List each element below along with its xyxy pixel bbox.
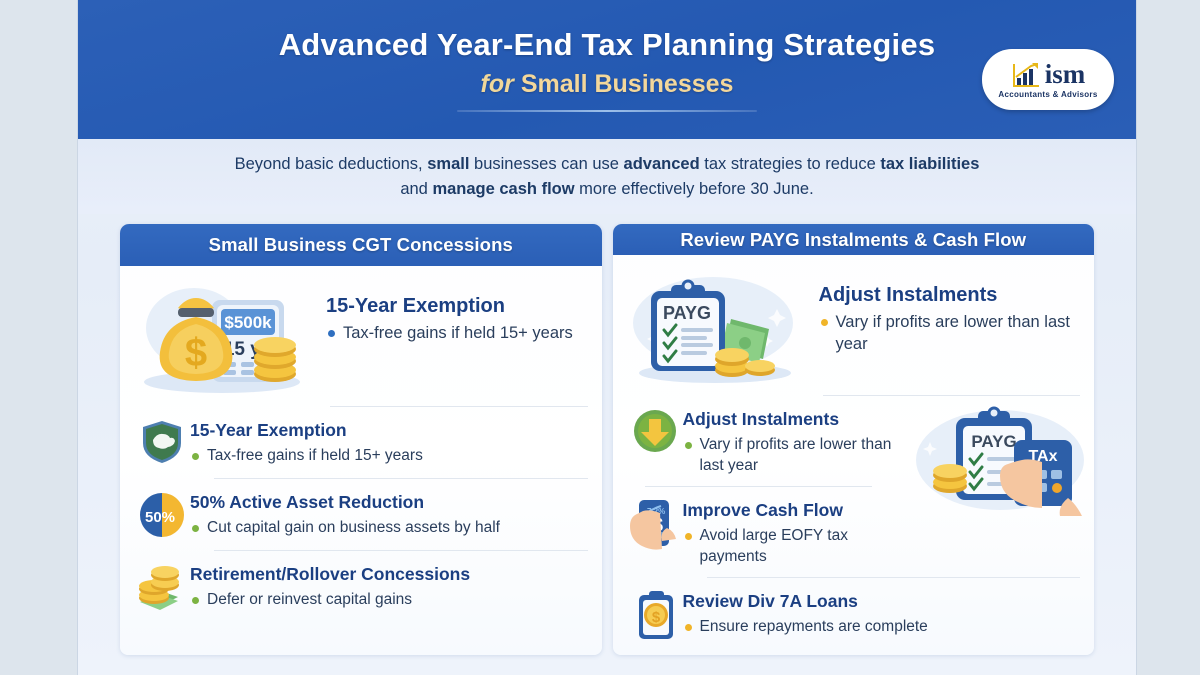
item-bullet: Defer or reinvest capital gains <box>190 590 588 610</box>
svg-text:$: $ <box>185 331 207 375</box>
header-text-block: Advanced Year-End Tax Planning Strategie… <box>78 27 1136 111</box>
logo-top-row: ism <box>1011 61 1086 89</box>
item-heading: 50% Active Asset Reduction <box>190 492 588 513</box>
svg-text:50%: 50% <box>145 509 175 526</box>
item-heading: Review Div 7A Loans <box>683 591 1081 612</box>
payg-clipboard-cash-icon: PAYG <box>627 271 809 387</box>
item-bullet-text: Ensure repayments are complete <box>700 617 928 637</box>
list-item-text: Retirement/Rollover Concessions Defer or… <box>190 562 588 610</box>
card-body-left: $500k 15 yr <box>120 266 602 655</box>
item-bullet-text: Defer or reinvest capital gains <box>207 590 412 610</box>
item-bullet-text: Tax-free gains if held 15+ years <box>343 323 573 345</box>
divider <box>214 550 588 551</box>
divider <box>823 395 1081 396</box>
card-cgt-concessions: Small Business CGT Concessions <box>120 224 602 655</box>
list-item-text: 15-Year Exemption Tax-free gains if held… <box>190 418 588 466</box>
list-item[interactable]: $ Review Div 7A Loans Ensure repayments … <box>627 580 1081 647</box>
columns-container: Small Business CGT Concessions <box>78 214 1136 665</box>
subtitle-audience: Small Businesses <box>521 70 734 98</box>
poster: Advanced Year-End Tax Planning Strategie… <box>78 0 1136 675</box>
list-item-text: Adjust Instalments Vary if profits are l… <box>809 271 1081 356</box>
title-underline <box>457 110 757 112</box>
coins-cash-icon <box>134 562 190 612</box>
intro-band: Beyond basic deductions, small businesse… <box>78 139 1136 214</box>
item-heading: Improve Cash Flow <box>683 500 905 521</box>
card-title-right: Review PAYG Instalments & Cash Flow <box>613 224 1095 255</box>
item-bullet-text: Vary if profits are lower than last year <box>700 435 905 476</box>
item-heading: Adjust Instalments <box>683 409 905 430</box>
svg-text:PAYG: PAYG <box>662 303 710 323</box>
brand-logo[interactable]: ism Accountants & Advisors <box>982 49 1114 110</box>
item-bullet: Tax-free gains if held 15+ years <box>326 323 588 345</box>
list-item[interactable]: 15-Year Exemption Tax-free gains if held… <box>134 409 588 476</box>
infographic-canvas: Advanced Year-End Tax Planning Strategie… <box>0 0 1200 675</box>
item-heading: Retirement/Rollover Concessions <box>190 564 588 585</box>
item-heading: 15-Year Exemption <box>190 420 588 441</box>
bullet-dot-icon <box>192 597 199 604</box>
bullet-dot-icon <box>685 442 692 449</box>
item-heading: Adjust Instalments <box>819 283 1081 307</box>
list-item[interactable]: 7.2% $ <box>627 489 1081 575</box>
logo-stack: ism Accountants & Advisors <box>998 61 1097 99</box>
list-item-text: 15-Year Exemption Tax-free gains if held… <box>316 282 588 345</box>
item-bullet: Cut capital gain on business assets by h… <box>190 518 588 538</box>
list-item-text: 50% Active Asset Reduction Cut capital g… <box>190 490 588 538</box>
page-subtitle: for Small Businesses <box>118 70 1096 99</box>
item-bullet-text: Vary if profits are lower than last year <box>836 312 1081 356</box>
item-bullet-text: Avoid large EOFY tax payments <box>700 526 905 567</box>
subtitle-for: for <box>481 70 514 98</box>
poster-header: Advanced Year-End Tax Planning Strategie… <box>78 0 1136 139</box>
list-item[interactable]: 50% 50% Active Asset Reduction Cut capit… <box>134 481 588 548</box>
intro-line-2: and manage cash flow more effectively be… <box>400 177 813 202</box>
item-bullet-text: Cut capital gain on business assets by h… <box>207 518 500 538</box>
divider <box>645 486 873 487</box>
logo-wordmark: ism <box>1045 61 1086 88</box>
down-arrow-circle-icon <box>627 407 683 457</box>
bullet-dot-icon <box>685 624 692 631</box>
list-item-text: Adjust Instalments Vary if profits are l… <box>683 407 1081 476</box>
intro-line-1: Beyond basic deductions, small businesse… <box>235 152 980 177</box>
item-bullet: Ensure repayments are complete <box>683 617 1081 637</box>
svg-text:$: $ <box>651 609 660 626</box>
card-payg-cashflow: Review PAYG Instalments & Cash Flow <box>613 224 1095 655</box>
card-title-left: Small Business CGT Concessions <box>120 224 602 266</box>
divider <box>707 577 1081 578</box>
list-item-text: Review Div 7A Loans Ensure repayments ar… <box>683 589 1081 637</box>
australia-shield-icon <box>134 418 190 468</box>
bullet-dot-icon <box>821 319 828 326</box>
bar-chart-arrow-icon <box>1011 61 1041 89</box>
list-item[interactable]: Adjust Instalments Vary if profits are l… <box>627 398 1081 484</box>
item-bullet: Vary if profits are lower than last year <box>683 435 905 476</box>
list-item-text: Improve Cash Flow Avoid large EOFY tax p… <box>683 498 1081 567</box>
hand-phone-dollar-icon: 7.2% $ <box>627 498 683 548</box>
logo-tagline: Accountants & Advisors <box>998 90 1097 99</box>
clipboard-coin-icon: $ <box>627 589 683 639</box>
bullet-dot-icon <box>192 525 199 532</box>
divider <box>330 406 588 407</box>
money-bag-calculator-icon: $500k 15 yr <box>134 282 316 398</box>
item-bullet: Tax-free gains if held 15+ years <box>190 446 588 466</box>
pie-chart-50-percent-icon: 50% <box>134 490 190 540</box>
divider <box>214 478 588 479</box>
card-body-right: PAYG <box>613 255 1095 655</box>
bullet-dot-icon <box>328 330 335 337</box>
list-item[interactable]: $500k 15 yr <box>134 272 588 404</box>
page-title: Advanced Year-End Tax Planning Strategie… <box>118 27 1096 63</box>
svg-text:$500k: $500k <box>224 313 272 332</box>
item-heading: 15-Year Exemption <box>326 294 588 318</box>
list-item[interactable]: Retirement/Rollover Concessions Defer or… <box>134 553 588 620</box>
item-bullet: Vary if profits are lower than last year <box>819 312 1081 356</box>
item-bullet: Avoid large EOFY tax payments <box>683 526 905 567</box>
bullet-dot-icon <box>685 533 692 540</box>
bullet-dot-icon <box>192 453 199 460</box>
list-item[interactable]: PAYG <box>627 261 1081 393</box>
item-bullet-text: Tax-free gains if held 15+ years <box>207 446 423 466</box>
